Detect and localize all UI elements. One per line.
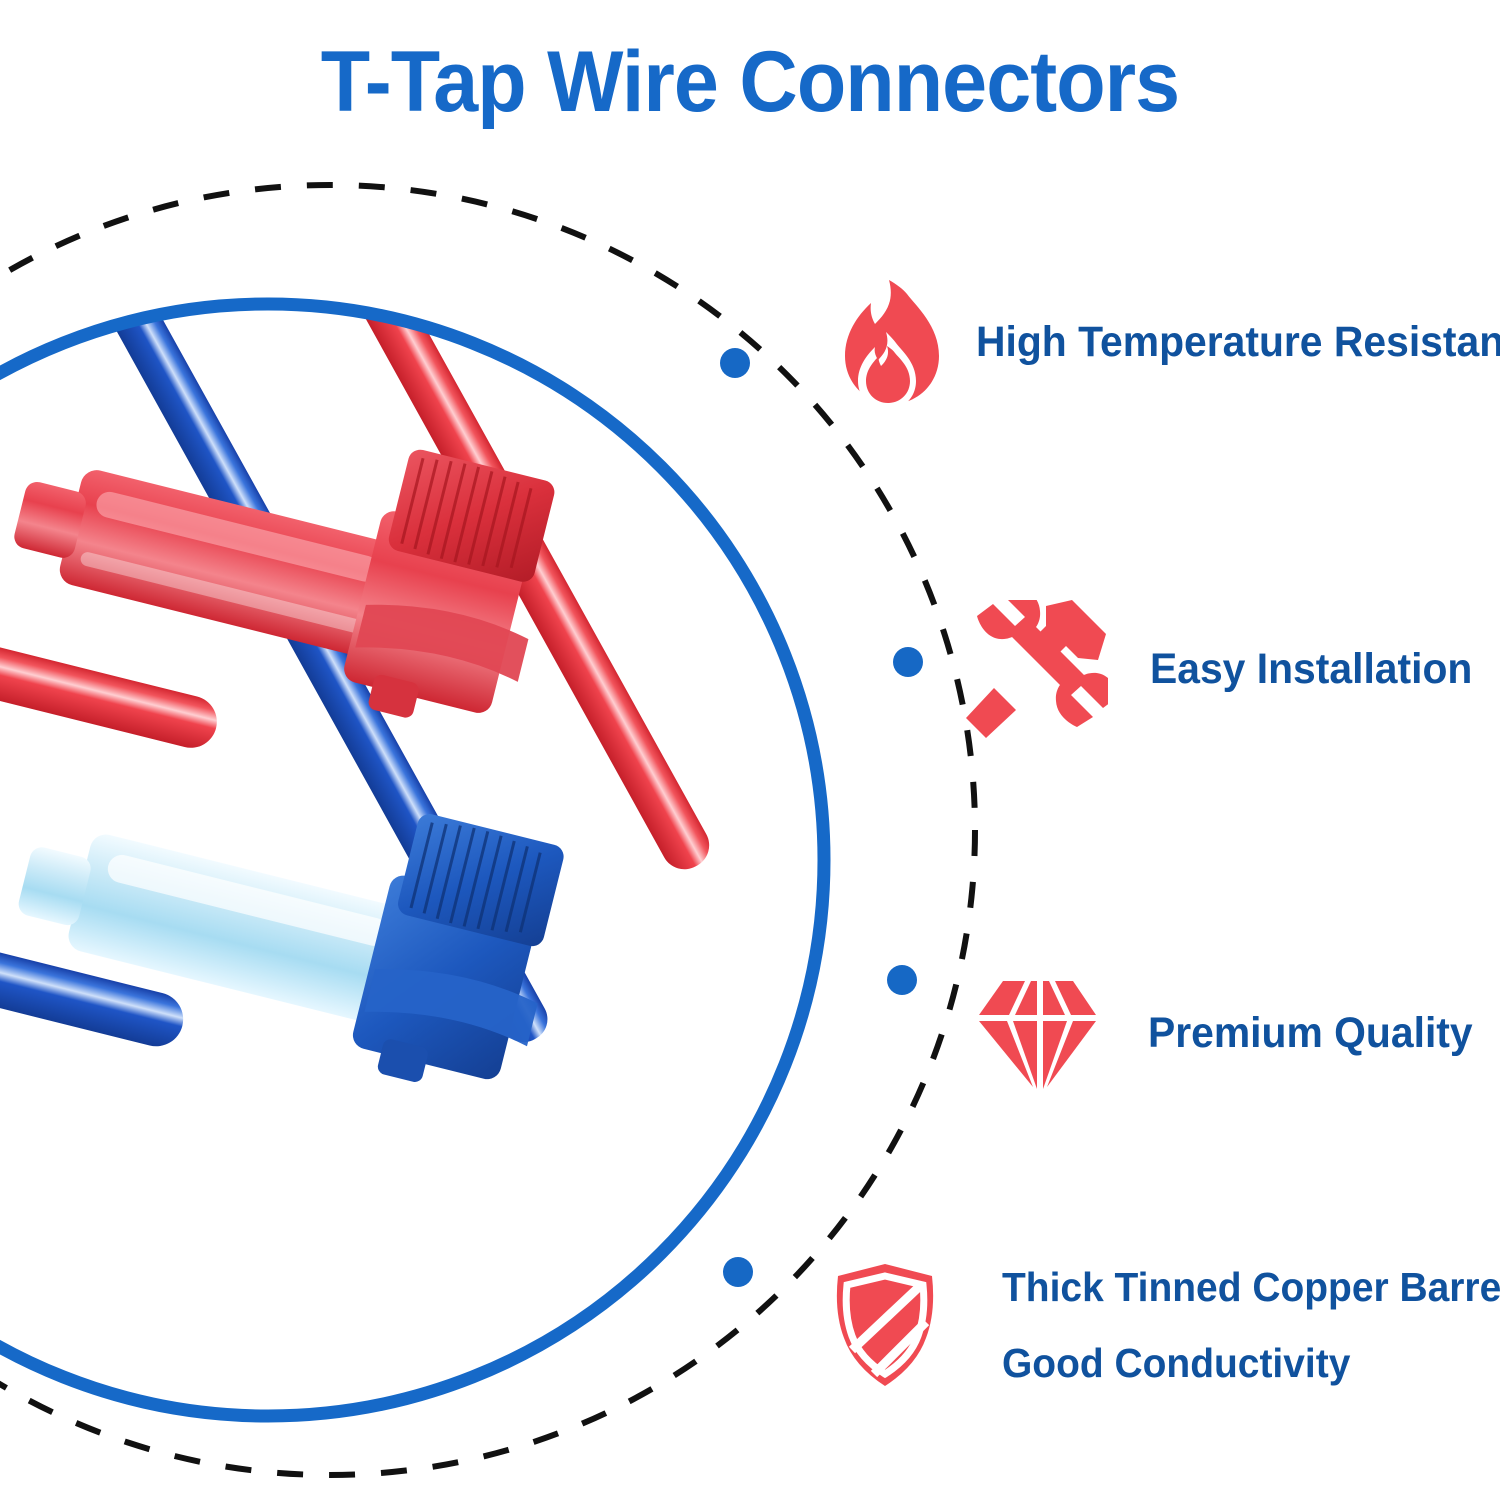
connector-dot-2 (893, 647, 923, 677)
feature-label: High Temperature Resistance (976, 316, 1500, 368)
feature-label: Easy Installation (1150, 643, 1472, 695)
shield-icon (830, 1262, 940, 1388)
product-photo (0, 0, 860, 1440)
connector-dot-1 (720, 348, 750, 378)
feature-label: Premium Quality (1148, 1007, 1473, 1059)
flame-icon (826, 278, 944, 406)
feature-thick-tinned-copper-barrel: Thick Tinned Copper Barrel Good Conducti… (830, 1262, 1500, 1388)
connector-dot-4 (723, 1257, 753, 1287)
feature-easy-installation: Easy Installation (960, 600, 1489, 738)
wrench-hammer-icon (960, 600, 1108, 738)
feature-label: Thick Tinned Copper Barrel Good Conducti… (1002, 1263, 1500, 1387)
feature-premium-quality: Premium Quality (975, 975, 1490, 1091)
diamond-icon (975, 975, 1100, 1091)
feature-high-temperature-resistance: High Temperature Resistance (826, 278, 1500, 406)
connector-dot-3 (887, 965, 917, 995)
